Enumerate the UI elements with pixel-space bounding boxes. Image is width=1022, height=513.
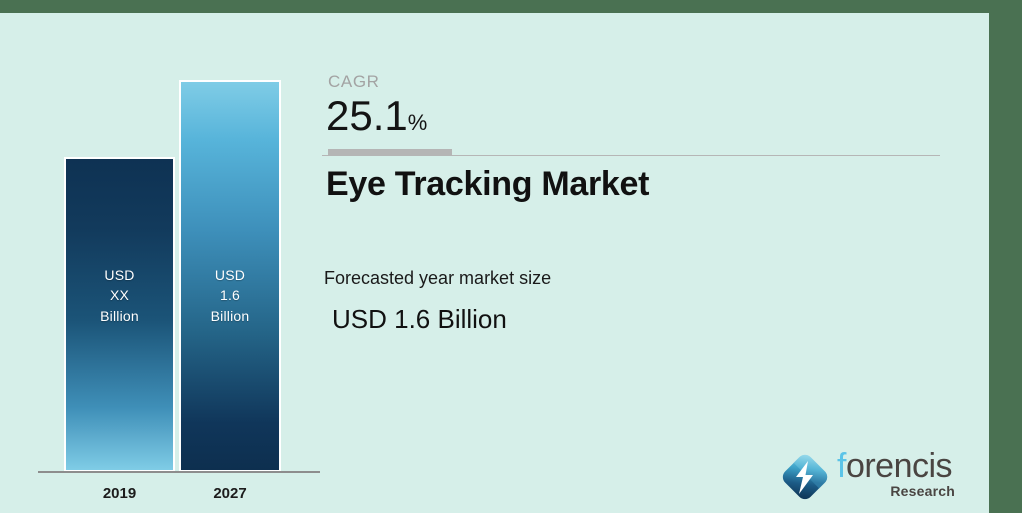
bar-2027-label-line3: Billion xyxy=(181,306,279,326)
x-axis-line xyxy=(38,471,320,473)
page-title: Eye Tracking Market xyxy=(326,165,649,204)
logo-brand-lead: f xyxy=(837,447,846,485)
infographic-canvas: USD XX Billion USD 1.6 Billion 2019 2027… xyxy=(0,0,1022,513)
cagr-number: 25.1 xyxy=(326,92,408,139)
axis-tick-2019: 2019 xyxy=(64,485,175,502)
logo-brand-rest: orencis xyxy=(846,447,952,485)
bar-2019-label: USD XX Billion xyxy=(66,265,173,326)
cagr-percent-sign: % xyxy=(408,110,428,135)
brand-logo: forencis Research xyxy=(777,447,957,509)
axis-tick-2027: 2027 xyxy=(179,485,281,502)
bar-2019-label-line2: XX xyxy=(66,285,173,305)
forencis-diamond-bolt-icon xyxy=(777,449,833,505)
bar-2027-label-line2: 1.6 xyxy=(181,285,279,305)
bar-2027: USD 1.6 Billion xyxy=(179,80,281,472)
logo-tagline: Research xyxy=(837,483,955,499)
forecast-label: Forecasted year market size xyxy=(324,268,551,289)
right-green-band xyxy=(989,0,1022,513)
divider-accent-bar xyxy=(328,149,452,156)
logo-brand-text: forencis xyxy=(837,449,952,483)
forecast-value: USD 1.6 Billion xyxy=(332,304,507,335)
bar-chart: USD XX Billion USD 1.6 Billion 2019 2027 xyxy=(0,0,330,513)
bar-2019-label-line3: Billion xyxy=(66,306,173,326)
bar-2027-label: USD 1.6 Billion xyxy=(181,265,279,326)
bar-2027-label-line1: USD xyxy=(181,265,279,285)
content-panel: CAGR 25.1% Eye Tracking Market Forecaste… xyxy=(322,0,962,513)
bar-2019-label-line1: USD xyxy=(66,265,173,285)
logo-wordmark: forencis Research xyxy=(837,447,957,507)
bar-2019: USD XX Billion xyxy=(64,157,175,472)
cagr-value: 25.1% xyxy=(326,95,427,137)
cagr-label: CAGR xyxy=(328,72,380,92)
